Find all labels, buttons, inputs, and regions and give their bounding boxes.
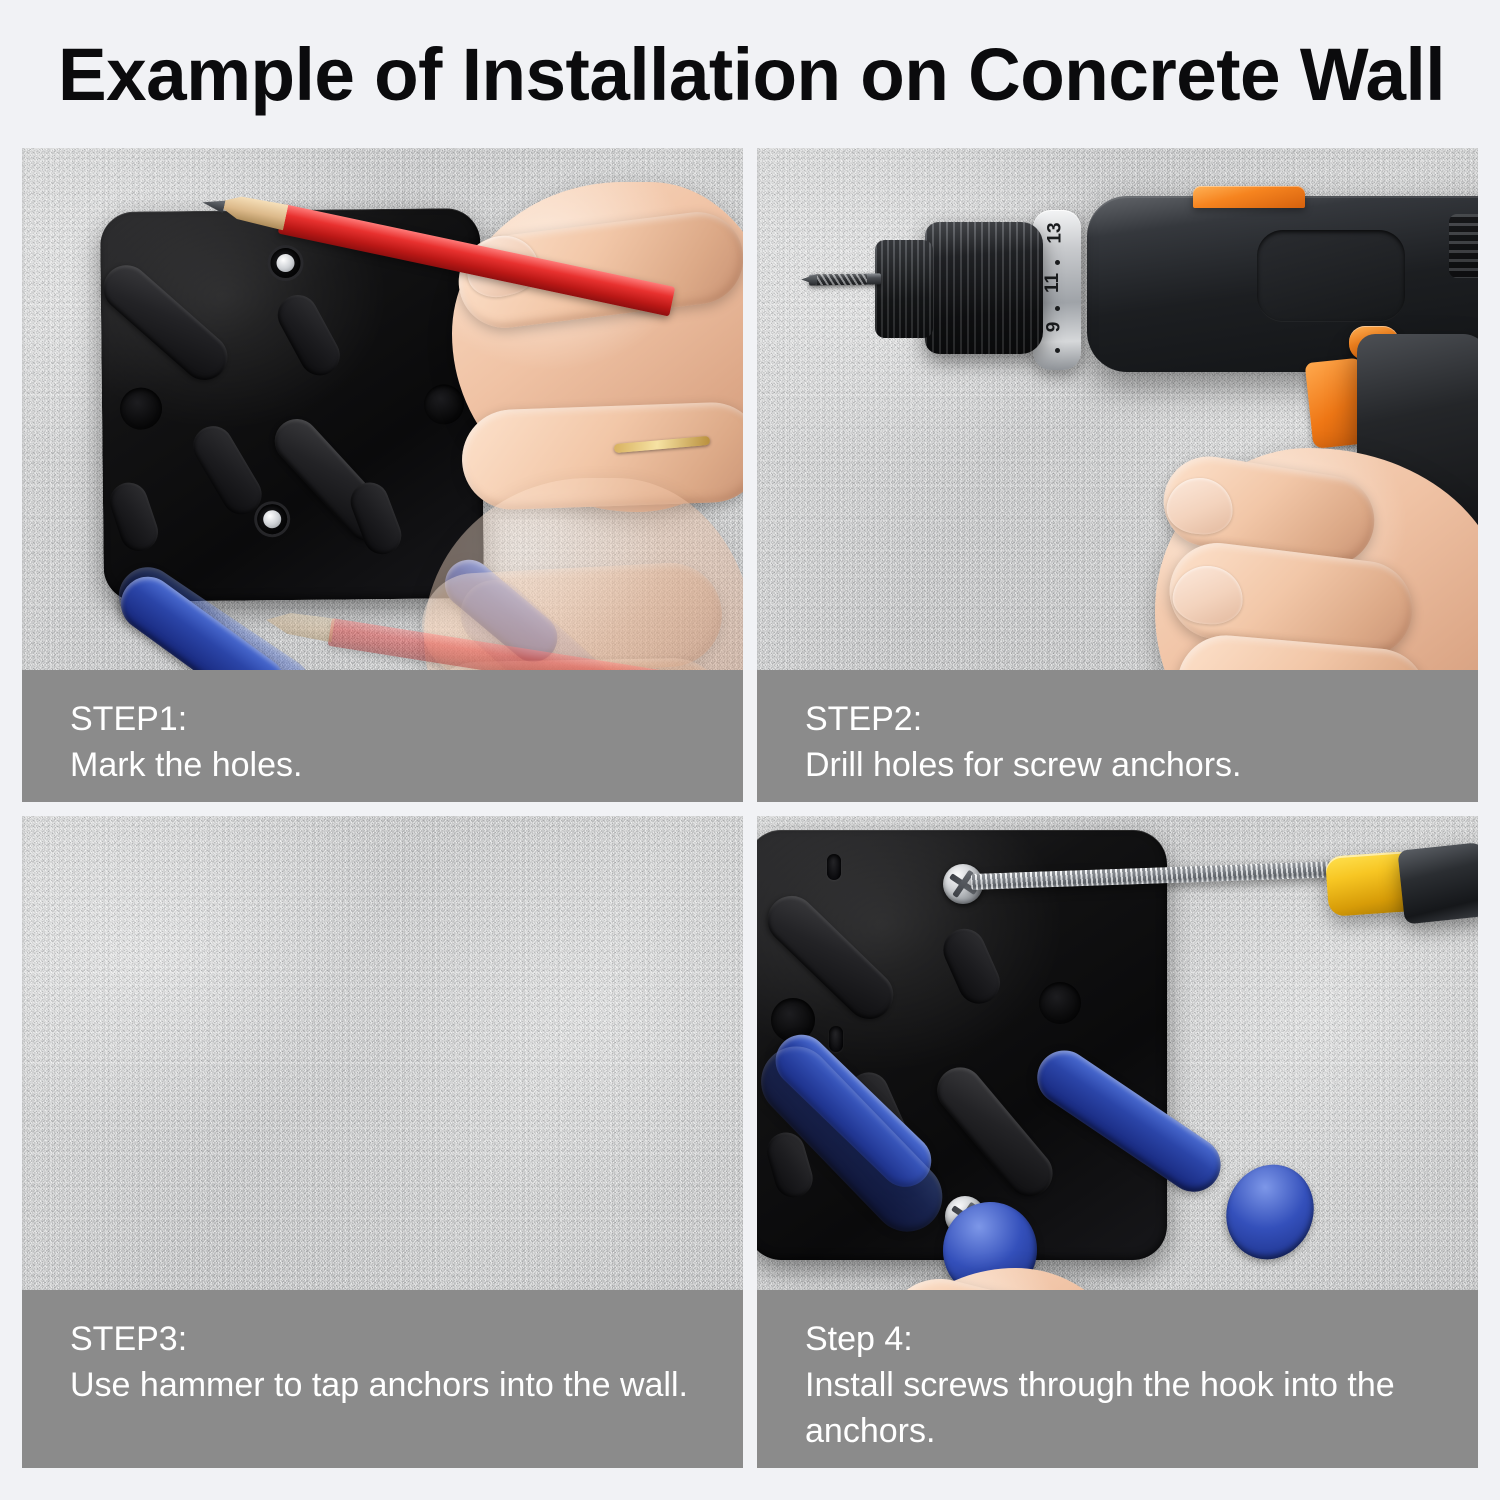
drill-body-panel [1257, 230, 1405, 322]
steps-grid: STEP1: Mark the holes. 13 11 [22, 148, 1478, 1468]
step-label: Step 4: [805, 1316, 1430, 1362]
black-hook-plate [100, 208, 484, 602]
step-instruction: Install screws through the hook into the… [805, 1362, 1430, 1454]
plate-rib [271, 288, 347, 383]
plate-rib [937, 922, 1007, 1010]
pencil-mark [263, 510, 281, 528]
hook-peg-base [1039, 982, 1081, 1024]
collar-number-11: 11 [1042, 273, 1064, 293]
plate-rib [105, 478, 163, 556]
caption-step-2: STEP2: Drill holes for screw anchors. [757, 670, 1478, 802]
drill-chuck [925, 222, 1043, 354]
step-instruction: Drill holes for screw anchors. [805, 742, 1430, 788]
drill-vents [1449, 214, 1478, 278]
step-label: STEP3: [70, 1316, 695, 1362]
plate-rib [186, 419, 269, 522]
drill-chuck-nose [875, 240, 933, 338]
panel-step-2: 13 11 9 [757, 148, 1478, 802]
collar-tick [1055, 260, 1060, 265]
step-instruction: Use hammer to tap anchors into the wall. [70, 1362, 695, 1408]
hook-peg-base [120, 387, 162, 429]
panel-step-1: STEP1: Mark the holes. [22, 148, 743, 802]
hook-peg-base [424, 384, 464, 424]
panel-step-4: Step 4: Install screws through the hook … [757, 816, 1478, 1468]
drill-top-accent [1193, 186, 1305, 208]
plate-rib [94, 256, 237, 390]
caption-step-4: Step 4: Install screws through the hook … [757, 1290, 1478, 1468]
step-label: STEP2: [805, 696, 1430, 742]
panel-step-3: STEP3: Use hammer to tap anchors into th… [22, 816, 743, 1468]
plate-slot [827, 854, 841, 880]
collar-number-9: 9 [1043, 322, 1065, 333]
installation-instruction-graphic: Example of Installation on Concrete Wall [0, 0, 1500, 1500]
caption-step-3: STEP3: Use hammer to tap anchors into th… [22, 1290, 743, 1468]
drill-bit-flutes [815, 274, 867, 285]
step-label: STEP1: [70, 696, 695, 742]
caption-step-1: STEP1: Mark the holes. [22, 670, 743, 802]
step-instruction: Mark the holes. [70, 742, 695, 788]
collar-tick [1055, 306, 1060, 311]
plate-slot [829, 1026, 843, 1052]
pencil-mark [276, 254, 294, 272]
page-title: Example of Installation on Concrete Wall [58, 32, 1437, 118]
collar-number-13: 13 [1045, 222, 1067, 243]
collar-tick [1055, 348, 1060, 353]
screwdriver-handle-black [1397, 841, 1478, 924]
